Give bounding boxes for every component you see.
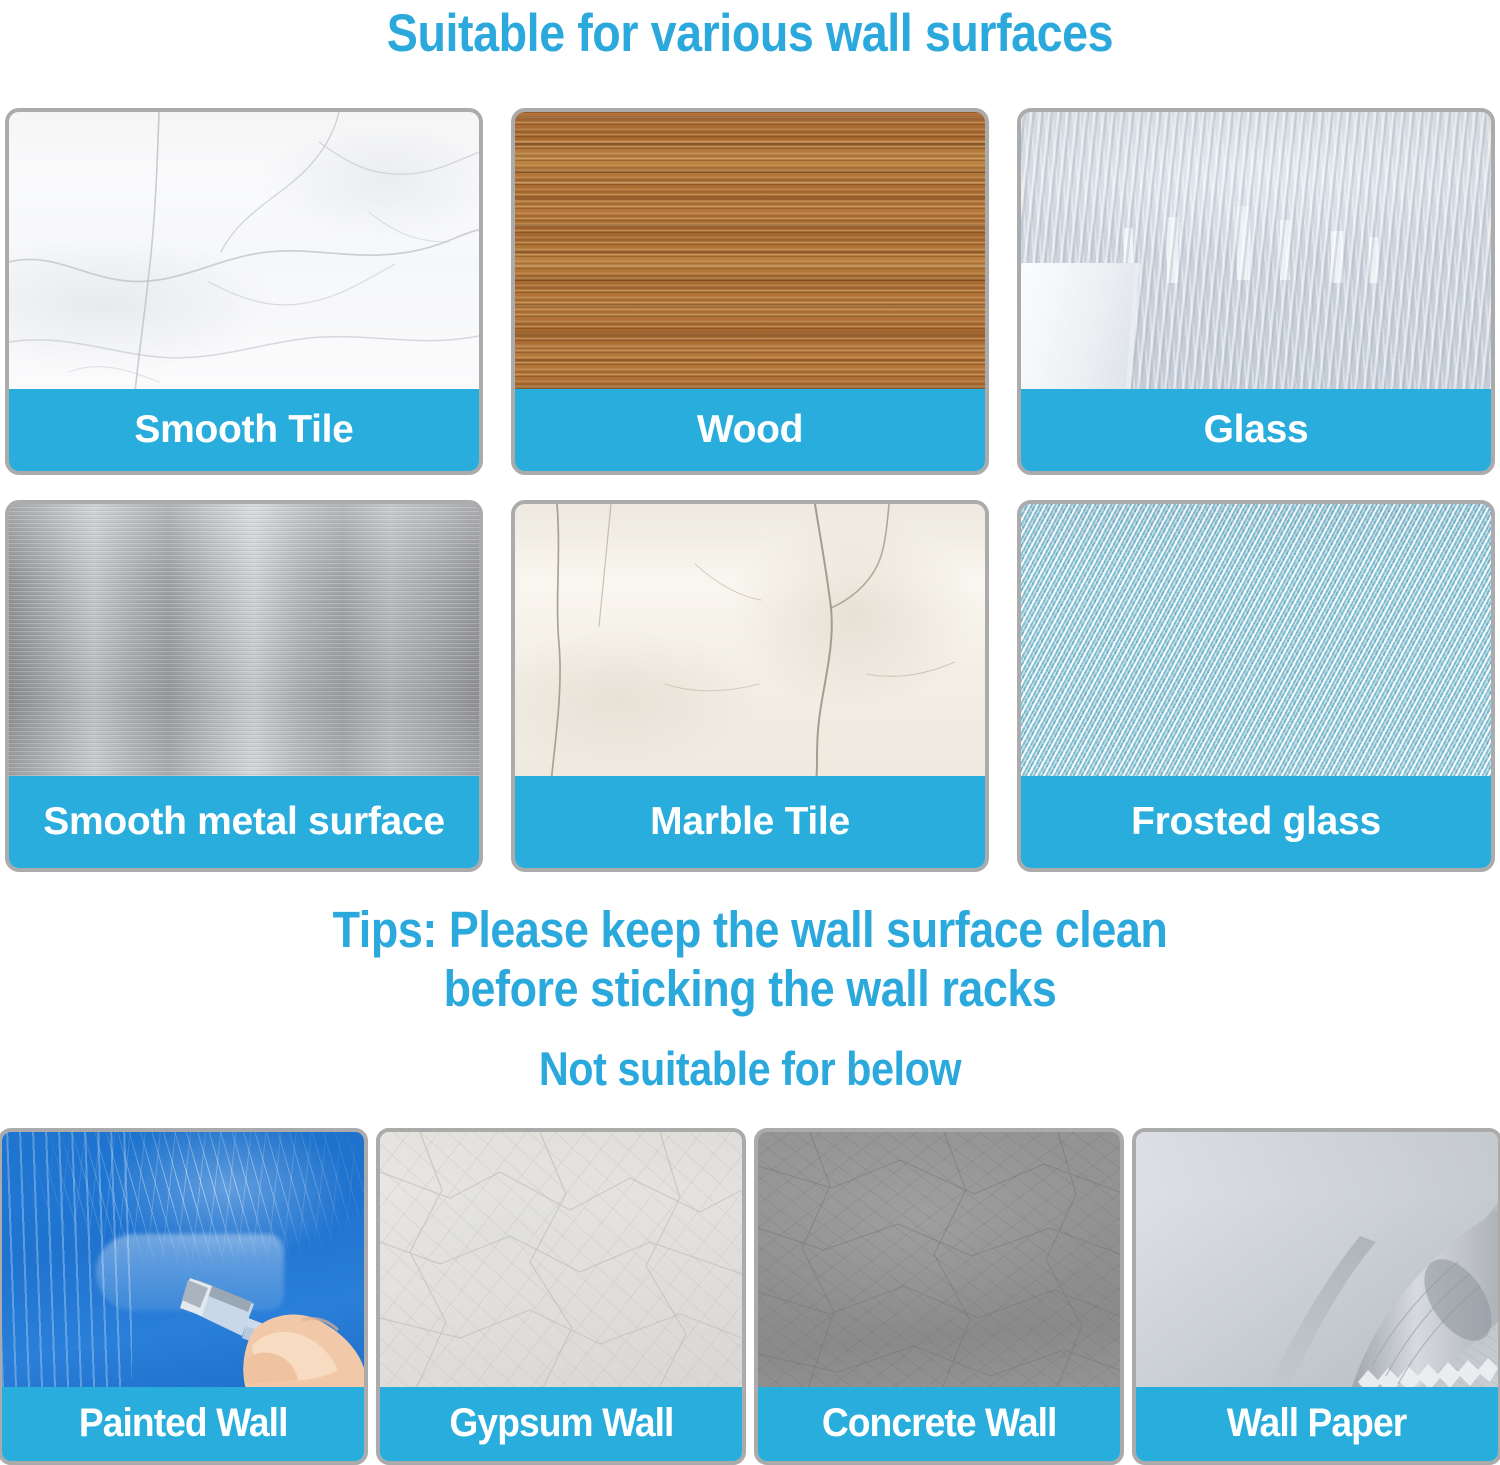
marble-tile-photo [515, 504, 985, 776]
tips-line-2: before sticking the wall racks [90, 959, 1410, 1018]
wall-paper-photo [1136, 1132, 1498, 1387]
surface-label-concrete-wall: Concrete Wall [758, 1387, 1120, 1461]
surface-card-frosted-glass[interactable]: Frosted glass [1017, 500, 1495, 872]
gypsum-crease-lines-icon [380, 1132, 742, 1387]
surface-label-concrete-wall-text: Concrete Wall [822, 1403, 1057, 1445]
surface-label-wall-paper-text: Wall Paper [1227, 1403, 1407, 1445]
wood-grain-texture [515, 112, 985, 389]
marble-vein-lines-icon [9, 112, 479, 389]
metal-sheen-overlay [9, 504, 479, 776]
surface-card-gypsum-wall[interactable]: Gypsum Wall [376, 1128, 746, 1465]
not-suitable-surfaces-row: Painted Wall [0, 1128, 1500, 1465]
rolled-wallpaper-icon [1136, 1132, 1498, 1387]
smooth-metal-photo [9, 504, 479, 776]
gypsum-wall-photo [380, 1132, 742, 1387]
surface-card-glass[interactable]: Glass [1017, 108, 1495, 475]
window-frame [1021, 263, 1140, 389]
concrete-wall-photo [758, 1132, 1120, 1387]
not-suitable-heading: Not suitable for below [0, 1045, 1500, 1092]
surface-label-gypsum-wall-text: Gypsum Wall [449, 1403, 673, 1445]
suitable-surfaces-row-1: Smooth Tile Wood Gla [5, 108, 1495, 475]
surface-label-gypsum-wall: Gypsum Wall [380, 1387, 742, 1461]
surface-card-painted-wall[interactable]: Painted Wall [0, 1128, 368, 1465]
surface-label-painted-wall-text: Painted Wall [79, 1403, 288, 1445]
surface-label-frosted-glass: Frosted glass [1021, 776, 1491, 868]
surface-card-wood[interactable]: Wood [511, 108, 989, 475]
surface-card-smooth-metal[interactable]: Smooth metal surface [5, 500, 483, 872]
frosted-glass-photo [1021, 504, 1491, 776]
surface-label-painted-wall: Painted Wall [2, 1387, 364, 1461]
painted-wall-photo [2, 1132, 364, 1387]
tips-line-1: Tips: Please keep the wall surface clean [90, 900, 1410, 959]
concrete-scuff-lines-icon [758, 1132, 1120, 1387]
surface-label-wood: Wood [515, 389, 985, 471]
page-title-text: Suitable for various wall surfaces [90, 7, 1410, 60]
surface-label-smooth-tile: Smooth Tile [9, 389, 479, 471]
glass-photo [1021, 112, 1491, 389]
hand-with-scraper-icon [2, 1132, 364, 1387]
suitable-surfaces-row-2: Smooth metal surface [5, 500, 1495, 872]
surface-card-concrete-wall[interactable]: Concrete Wall [754, 1128, 1124, 1465]
surface-label-glass: Glass [1021, 389, 1491, 471]
marble-vein-lines-icon [515, 504, 985, 776]
frosted-glass-texture [1021, 504, 1491, 776]
surface-label-marble-tile: Marble Tile [515, 776, 985, 868]
not-suitable-title-text: Not suitable for below [90, 1045, 1410, 1092]
surface-card-wall-paper[interactable]: Wall Paper [1132, 1128, 1500, 1465]
surface-label-wall-paper: Wall Paper [1136, 1387, 1498, 1461]
page-title: Suitable for various wall surfaces [0, 2, 1500, 64]
smooth-tile-photo [9, 112, 479, 389]
surface-card-marble-tile[interactable]: Marble Tile [511, 500, 989, 872]
tips-block: Tips: Please keep the wall surface clean… [0, 900, 1500, 1018]
surface-label-smooth-metal: Smooth metal surface [9, 776, 479, 868]
surface-card-smooth-tile[interactable]: Smooth Tile [5, 108, 483, 475]
wood-photo [515, 112, 985, 389]
infographic-page: Suitable for various wall surfaces [0, 0, 1500, 1465]
